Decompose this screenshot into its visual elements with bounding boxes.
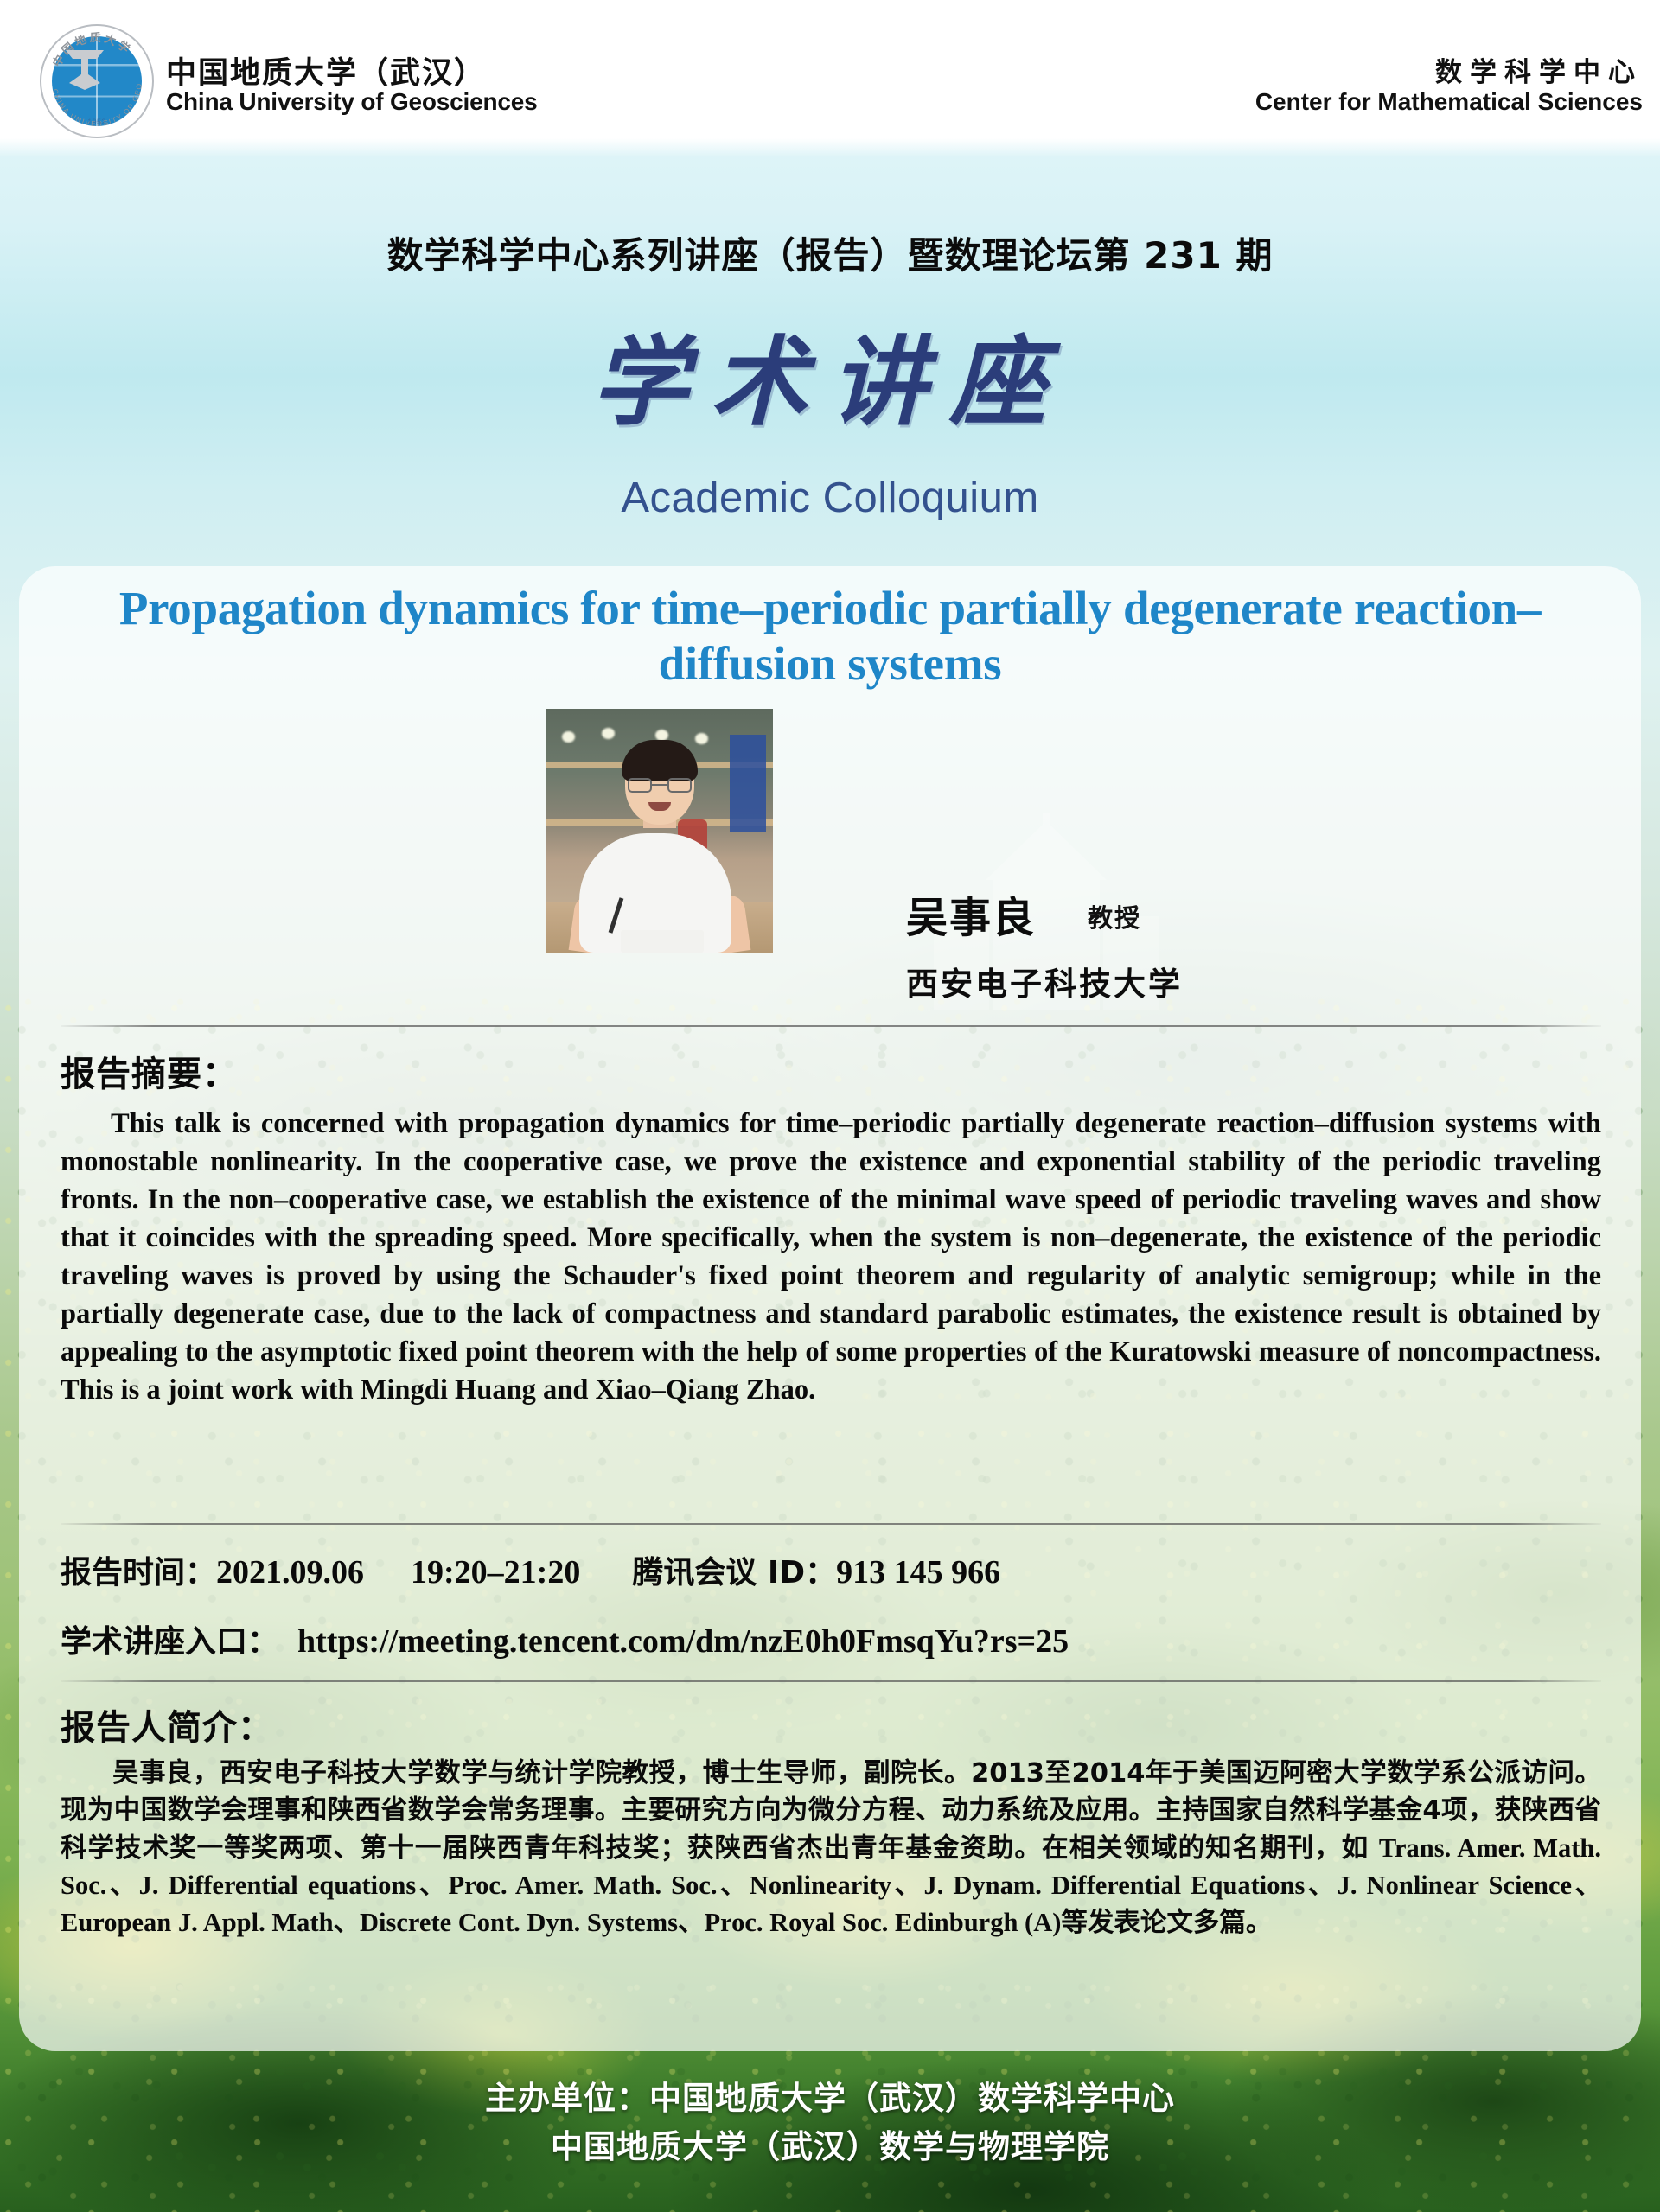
speaker-portrait — [546, 709, 773, 953]
bio-text-tail: 等发表论文多篇。 — [1061, 1908, 1272, 1938]
poster-root: 中国地质大学 CHINA UNIVERSITY OF GEOSCIENCES 1… — [0, 0, 1660, 2212]
divider-above-abstract — [61, 1025, 1601, 1027]
center-name-en: Center for Mathematical Sciences — [1255, 88, 1643, 116]
speaker-name: 吴事良 — [906, 883, 1036, 944]
calligraphy-title-en: Academic Colloquium — [0, 474, 1660, 522]
series-title: 数学科学中心系列讲座（报告）暨数理论坛第 231 期 — [0, 226, 1660, 279]
abstract-heading: 报告摘要： — [61, 1046, 238, 1096]
center-name-cn: 数学科学中心 — [1435, 50, 1643, 89]
footer-line-2: 中国地质大学（武汉）数学与物理学院 — [0, 2123, 1660, 2171]
bio-body: 吴事良，西安电子科技大学数学与统计学院教授，博士生导师，副院长。2013至201… — [61, 1755, 1601, 1941]
footer-organizers: 主办单位：中国地质大学（武汉）数学科学中心 中国地质大学（武汉）数学与物理学院 — [0, 2075, 1660, 2171]
university-seal-icon: 中国地质大学 CHINA UNIVERSITY OF GEOSCIENCES 1… — [40, 24, 154, 138]
university-name-cn: 中国地质大学（武汉） — [166, 48, 486, 92]
hammer-globe-icon — [62, 45, 107, 97]
bio-heading: 报告人简介： — [61, 1699, 273, 1750]
talk-date: 2021.09.06 — [216, 1554, 364, 1590]
abstract-body: This talk is concerned with propagation … — [61, 1105, 1601, 1409]
meeting-id-label: 腾讯会议 ID： — [632, 1555, 836, 1590]
calligraphy-title-cn: 学术讲座 — [0, 304, 1660, 444]
university-name-en: China University of Geosciences — [166, 88, 538, 116]
meeting-url-link[interactable]: https://meeting.tencent.com/dm/nzE0h0Fms… — [297, 1623, 1069, 1660]
meeting-entry-row: 学术讲座入口：https://meeting.tencent.com/dm/nz… — [61, 1616, 1069, 1661]
bio-text-cn: 吴事良，西安电子科技大学数学与统计学院教授，博士生导师，副院长。2013至201… — [61, 1758, 1601, 1864]
meeting-time-row: 报告时间：2021.09.0619:20–21:20腾讯会议 ID：913 14… — [61, 1547, 1000, 1592]
entry-label: 学术讲座入口： — [61, 1624, 278, 1660]
meeting-id: 913 145 966 — [836, 1554, 1000, 1590]
time-label: 报告时间： — [61, 1555, 216, 1590]
speaker-affiliation: 西安电子科技大学 — [906, 958, 1183, 1004]
header-bar: 中国地质大学 CHINA UNIVERSITY OF GEOSCIENCES 1… — [0, 0, 1660, 138]
footer-line-1: 主办单位：中国地质大学（武汉）数学科学中心 — [0, 2075, 1660, 2123]
seal-year: 1952 — [87, 118, 106, 126]
speaker-rank: 教授 — [1088, 898, 1141, 934]
talk-time-range: 19:20–21:20 — [411, 1554, 580, 1590]
divider-above-bio — [61, 1680, 1601, 1682]
talk-title: Propagation dynamics for time–periodic p… — [69, 581, 1591, 692]
divider-above-meeting — [61, 1523, 1601, 1525]
